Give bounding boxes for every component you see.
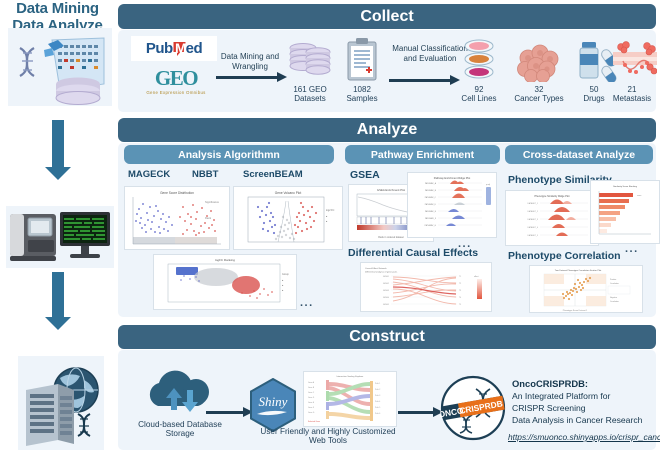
stat-unit-4: Drugs — [583, 94, 604, 103]
plot-phenotype-similarity-heatbar: Similarity Score Ranking score — [590, 180, 660, 244]
svg-text:DATASET_2: DATASET_2 — [527, 210, 538, 213]
pubmed-logo-text-c: ed — [186, 40, 203, 57]
plot-mageck-scatter: Gene Score Distribution Signif — [124, 186, 230, 250]
cloud-upload-download-icon — [142, 370, 216, 416]
plot-phenotype-similarity-ridge: Phenotype Similarity Ridge Plot DATASET_… — [505, 190, 599, 246]
svg-text:Phenotype Score Dataset 1: Phenotype Score Dataset 1 — [563, 309, 588, 312]
plot-differential-causal-effects: Causal Effect Network Differential analy… — [360, 262, 492, 312]
svg-text:Path 1: Path 1 — [375, 382, 380, 385]
svg-text:Similarity Score Ranking: Similarity Score Ranking — [613, 185, 638, 188]
algorithm-label-screenbeam: ScreenBEAM — [243, 169, 303, 180]
geo-logo-subtitle: Gene Expression Omnibus — [137, 90, 215, 95]
svg-text:Gene F: Gene F — [308, 407, 315, 409]
svg-text:Selected Gene: Selected Gene — [308, 420, 320, 423]
svg-text:GENE3: GENE3 — [383, 290, 389, 292]
svg-text:T2: T2 — [459, 283, 461, 285]
plot-phenotype-correlation-scatter: Two Dataset Phenotype Correlation Scatte… — [529, 265, 643, 313]
svg-text:Negative: Negative — [610, 296, 617, 299]
svg-text:T4: T4 — [459, 297, 461, 299]
plot-sankey-web-tool: Interactive Sankey Explorer Gene AGene B… — [303, 371, 397, 427]
cross-dataset-more-dots: ... — [625, 243, 639, 255]
plot-screenbeam-volcano: Gene Volcano Plot log2 FC — [233, 186, 343, 250]
algorithm-label-mageck: MAGECK — [128, 169, 170, 180]
svg-text:Rank: Rank — [205, 216, 212, 220]
svg-text:logFC Ranking: logFC Ranking — [215, 258, 235, 262]
product-desc-line3: Data Analysis in Cancer Research — [512, 415, 660, 427]
svg-text:log2 FC: log2 FC — [326, 209, 335, 212]
analysis-algorithm-more-dots: ... — [300, 297, 314, 309]
rail-label-data-mining: Data Mining — [0, 0, 115, 17]
dna-database-icon — [8, 28, 112, 106]
pubmed-logo-icon: Pub M ed — [131, 36, 217, 61]
collect-section-header: Collect — [118, 4, 656, 29]
svg-text:Gene B: Gene B — [308, 387, 315, 389]
svg-text:Gene A: Gene A — [308, 381, 315, 384]
svg-text:effect: effect — [474, 275, 479, 278]
svg-text:Pathway Enrichment Ridge Plot: Pathway Enrichment Ridge Plot — [434, 176, 471, 180]
stat-unit-1: Samples — [346, 94, 377, 103]
rail-arrow-1 — [52, 120, 64, 168]
collect-arrow-2 — [389, 79, 451, 82]
clipboard-icon — [346, 38, 378, 82]
svg-text:Two Dataset Phenotype Correlat: Two Dataset Phenotype Correlation Scatte… — [555, 269, 602, 272]
svg-text:T1: T1 — [459, 276, 461, 278]
stat-unit-0: Datasets — [294, 94, 326, 103]
construct-step-0-caption: Cloud-based Database Storage — [128, 420, 232, 439]
subheader-cross-dataset: Cross-dataset Analyze — [505, 145, 653, 164]
construct-arrow-1 — [206, 411, 244, 414]
stat-value-0: 161 GEO — [293, 85, 326, 94]
product-url-link[interactable]: https://smuonco.shinyapps.io/crispr_canc… — [508, 432, 660, 442]
svg-text:DATASET_5: DATASET_5 — [527, 234, 538, 237]
svg-text:score: score — [637, 195, 641, 197]
svg-text:PATHWAY_B: PATHWAY_B — [425, 189, 437, 192]
construct-arrow-2 — [398, 411, 434, 414]
svg-text:DATASET_4: DATASET_4 — [527, 226, 538, 229]
construct-step-1-caption: User Friendly and Highly Customized Web … — [253, 427, 403, 446]
svg-text:Gene Score Distribution: Gene Score Distribution — [160, 191, 194, 195]
collect-arrow-1 — [216, 76, 278, 79]
rail-arrow-2 — [52, 272, 64, 318]
shiny-hex-icon: Shiny — [249, 378, 297, 432]
svg-text:Path 5: Path 5 — [375, 406, 380, 409]
pathway-item-label-gsea: GSEA — [350, 169, 380, 181]
plot-gsea-ridgeline: Pathway Enrichment Ridge Plot PATHWAY_AP… — [407, 172, 497, 238]
svg-text:Correlation: Correlation — [610, 282, 619, 285]
product-desc-line2: CRISPR Screening — [512, 403, 660, 415]
svg-text:Differential analysis of gene: Differential analysis of gene pairs — [365, 271, 398, 274]
product-desc-line1: An Integrated Platform for — [512, 391, 660, 403]
left-rail: Data Mining — [0, 0, 115, 51]
stat-value-3: 32 — [535, 85, 544, 94]
svg-text:Path 6: Path 6 — [375, 412, 380, 415]
analyze-section-header: Analyze — [118, 118, 656, 142]
svg-text:Interactive Sankey Explorer: Interactive Sankey Explorer — [337, 375, 364, 378]
svg-text:Gene E: Gene E — [308, 402, 315, 404]
shiny-logo-text: Shiny — [259, 394, 288, 409]
stat-value-4: 50 — [590, 85, 599, 94]
svg-text:T3: T3 — [459, 290, 461, 292]
pubmed-logo-text-a: Pub — [146, 40, 173, 57]
svg-text:p.adj: p.adj — [486, 184, 490, 186]
svg-text:Correlation: Correlation — [610, 300, 619, 303]
stat-unit-3: Cancer Types — [514, 94, 563, 103]
svg-text:Gene G: Gene G — [308, 412, 315, 414]
geo-logo-icon: GEO Gene Expression Omnibus — [137, 68, 215, 98]
pathway-item-label-dce: Differential Causal Effects — [348, 247, 478, 259]
svg-text:Gene Volcano Plot: Gene Volcano Plot — [275, 191, 302, 195]
svg-text:DATASET_3: DATASET_3 — [527, 218, 538, 221]
svg-text:Path 4: Path 4 — [375, 400, 380, 403]
svg-text:GENE2: GENE2 — [383, 283, 389, 285]
collect-arrow-2-caption: Manual Classification and Evaluation — [390, 44, 470, 63]
algorithm-label-nbbt: NBBT — [192, 169, 218, 180]
svg-text:DATASET_1: DATASET_1 — [527, 202, 538, 205]
stat-unit-2: Cell Lines — [461, 94, 496, 103]
plot-algorithm-ranking: logFC Ranking Group●●● — [153, 254, 297, 310]
construct-section-header: Construct — [118, 325, 656, 349]
svg-text:GSEA Enrichment Plot: GSEA Enrichment Plot — [377, 188, 405, 192]
oncocrisprdb-logo-icon: ONCO CRISPRDB — [440, 375, 506, 441]
svg-text:Phenotype Similarity Ridge Plo: Phenotype Similarity Ridge Plot — [534, 195, 569, 198]
database-stack-icon — [287, 40, 331, 82]
metastasis-icon — [613, 40, 657, 82]
svg-text:Path 3: Path 3 — [375, 394, 380, 397]
svg-text:GENE1: GENE1 — [383, 276, 389, 278]
svg-text:GENE4: GENE4 — [383, 297, 389, 299]
svg-text:GENE5: GENE5 — [383, 304, 389, 306]
svg-text:PATHWAY_A: PATHWAY_A — [425, 182, 437, 185]
cross-item-label-correlation: Phenotype Correlation — [508, 250, 621, 262]
stat-unit-5: Metastasis — [613, 94, 651, 103]
svg-text:PATHWAY_C: PATHWAY_C — [425, 196, 437, 199]
svg-text:PATHWAY_G: PATHWAY_G — [425, 224, 437, 227]
svg-text:PATHWAY_E: PATHWAY_E — [425, 210, 437, 213]
svg-text:Significance: Significance — [205, 200, 220, 204]
geo-logo-text: GEO — [137, 68, 215, 89]
sequencer-monitor-icon — [6, 206, 114, 268]
subheader-analysis-algorithm: Analysis Algorithmn — [124, 145, 334, 164]
svg-text:Group: Group — [282, 273, 289, 276]
stat-value-2: 92 — [475, 85, 484, 94]
svg-text:Gene C: Gene C — [308, 392, 315, 394]
product-name: OncoCRISPRDB: — [512, 378, 660, 391]
petri-dish-icon — [462, 38, 496, 82]
svg-text:Path 2: Path 2 — [375, 388, 380, 391]
svg-text:Rank in ordered dataset: Rank in ordered dataset — [378, 236, 404, 239]
svg-text:T5: T5 — [459, 304, 461, 306]
server-globe-dna-icon — [18, 356, 104, 450]
stat-value-5: 21 — [628, 85, 637, 94]
svg-text:PATHWAY_F: PATHWAY_F — [425, 217, 437, 220]
subheader-pathway-enrichment: Pathway Enrichment — [345, 145, 500, 164]
collect-arrow-1-caption: Data Mining and Wrangling — [214, 52, 286, 71]
svg-text:Gene D: Gene D — [308, 397, 315, 399]
svg-text:PATHWAY_D: PATHWAY_D — [425, 203, 437, 206]
svg-text:Causal Effect Network: Causal Effect Network — [365, 267, 388, 270]
stat-value-1: 1082 — [353, 85, 371, 94]
tumor-cluster-icon — [516, 44, 560, 82]
pubmed-logo-text-b: M — [175, 40, 187, 56]
svg-text:Positive: Positive — [610, 278, 616, 281]
